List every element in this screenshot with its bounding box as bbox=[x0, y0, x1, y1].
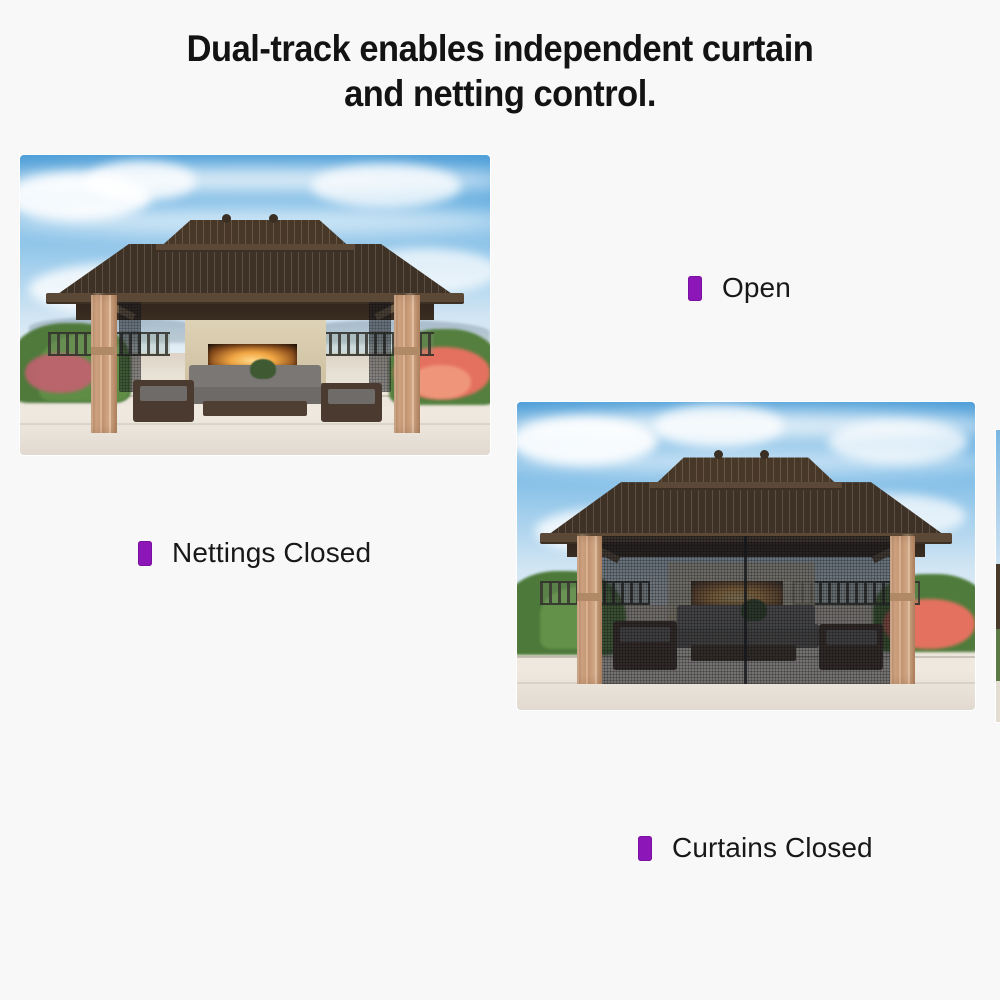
gazebo-roof-upper bbox=[654, 457, 837, 485]
netting-gathered bbox=[119, 302, 141, 392]
gazebo-roof-upper bbox=[161, 220, 349, 247]
label-curtains-closed: Curtains Closed bbox=[638, 832, 873, 864]
curtain-tieback-right bbox=[890, 593, 915, 601]
curtain-tied-left bbox=[91, 295, 117, 433]
photo-nettings-closed bbox=[20, 155, 490, 455]
cloud bbox=[86, 161, 196, 201]
curtain-tied-left bbox=[577, 536, 602, 684]
purple-rect-bullet-icon bbox=[688, 276, 702, 301]
photo-open bbox=[517, 402, 975, 710]
plant bbox=[250, 359, 276, 379]
coffee-table bbox=[203, 401, 306, 416]
cloud bbox=[654, 405, 784, 447]
label-nettings-closed: Nettings Closed bbox=[138, 537, 371, 569]
roof-edge bbox=[996, 564, 1000, 628]
patio-ground bbox=[996, 681, 1000, 722]
roof-upper-eave bbox=[156, 244, 353, 252]
netting-center-seam bbox=[744, 536, 747, 684]
netting-gathered bbox=[369, 302, 391, 392]
label-open: Open bbox=[688, 272, 791, 304]
purple-rect-bullet-icon bbox=[638, 836, 652, 861]
purple-rect-bullet-icon bbox=[138, 541, 152, 566]
page-root: Dual-track enables independent curtain a… bbox=[0, 0, 1000, 1000]
curtain-tied-right bbox=[394, 295, 420, 433]
label-curtains-closed-text: Curtains Closed bbox=[672, 832, 873, 864]
roof-finial bbox=[269, 214, 278, 223]
curtain-tied-right bbox=[890, 536, 915, 684]
label-nettings-closed-text: Nettings Closed bbox=[172, 537, 371, 569]
flower-bed bbox=[25, 353, 95, 393]
curtain-tieback-left bbox=[91, 347, 117, 355]
page-title: Dual-track enables independent curtain a… bbox=[35, 26, 965, 116]
curtain-tieback-right bbox=[394, 347, 420, 355]
sky bbox=[996, 430, 1000, 564]
flower-bed bbox=[411, 365, 471, 399]
roof-finial bbox=[714, 450, 723, 459]
armchair-cushion bbox=[140, 386, 187, 401]
hedge bbox=[996, 629, 1000, 682]
roof-finial bbox=[222, 214, 231, 223]
label-open-text: Open bbox=[722, 272, 791, 304]
photo-sliver-cropped bbox=[996, 430, 1000, 722]
roof-upper-eave bbox=[650, 482, 842, 490]
roof-finial bbox=[760, 450, 769, 459]
cloud bbox=[311, 164, 461, 208]
armchair-cushion bbox=[328, 389, 375, 404]
curtain-tieback-left bbox=[577, 593, 602, 601]
